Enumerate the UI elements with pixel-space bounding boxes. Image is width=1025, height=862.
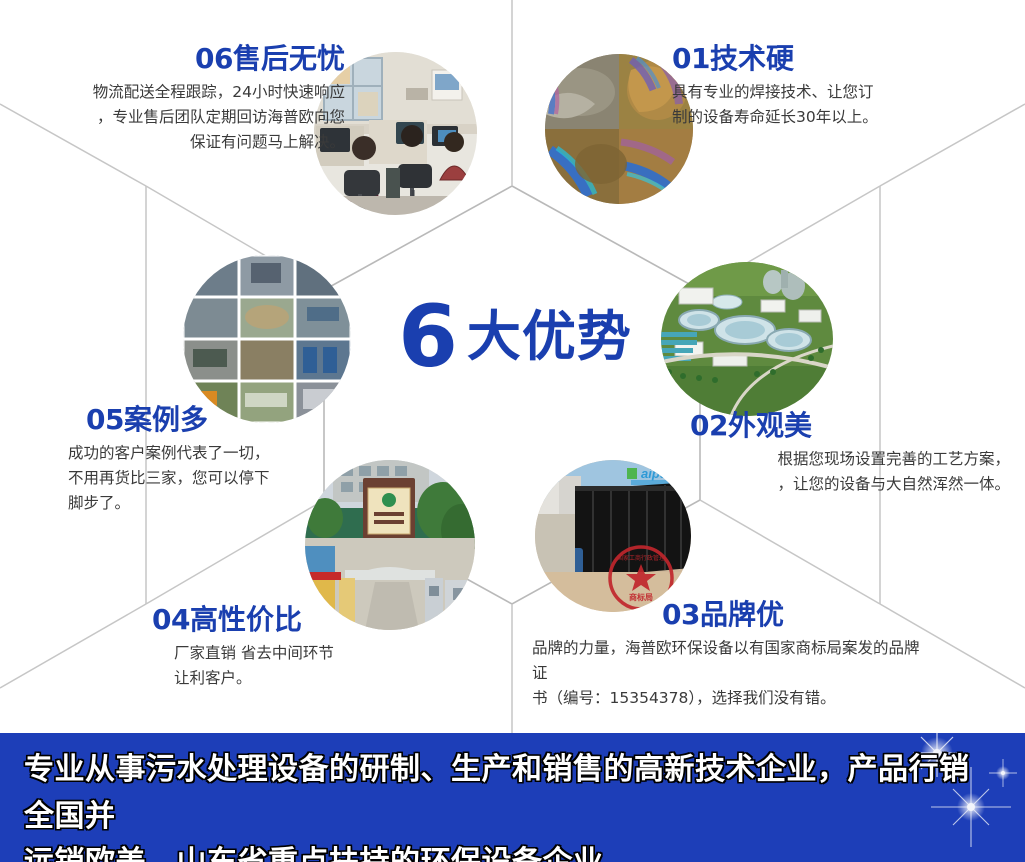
feature-04-line-2: 让利客户。 — [174, 666, 492, 691]
outer-edge-ll — [0, 604, 146, 688]
feature-03-desc: 品牌的力量，海普欧环保设备以有国家商标局案发的品牌证 书（编号：15354378… — [532, 636, 932, 711]
feature-05-line-3: 脚步了。 — [68, 491, 358, 516]
feature-05-title: 05案例多 — [86, 405, 358, 436]
center-number: 6 — [398, 294, 457, 380]
feature-02-desc: 根据您现场设置完善的工艺方案， ，让您的设备与大自然浑然一体。 — [690, 447, 1010, 497]
feature-05-number: 05 — [86, 403, 124, 436]
welding-closeup-photo — [545, 54, 693, 204]
feature-02-number: 02 — [690, 409, 728, 442]
feature-04-desc: 厂家直销 省去中间环节 让利客户。 — [174, 641, 492, 691]
feature-03-line-1: 品牌的力量，海普欧环保设备以有国家商标局案发的品牌证 — [532, 636, 932, 686]
feature-06-line-1: 物流配送全程跟踪，24小时快速响应 — [20, 80, 345, 105]
feature-06-number: 06 — [195, 42, 233, 75]
black-equipment-with-seal-photo: aipuou — [535, 460, 691, 612]
feature-06-line-2: ，专业售后团队定期回访海普欧向您 — [20, 105, 345, 130]
feature-04-title: 04高性价比 — [152, 605, 492, 636]
feature-05-desc: 成功的客户案例代表了一切， 不用再货比三家，您可以停下 脚步了。 — [68, 441, 358, 516]
svg-text:aipuou: aipuou — [641, 466, 684, 481]
feature-04-line-1: 厂家直销 省去中间环节 — [174, 641, 492, 666]
feature-02-heading: 外观美 — [728, 409, 812, 442]
svg-text:国家工商行政管理: 国家工商行政管理 — [617, 554, 665, 562]
center-words: 大优势 — [467, 310, 632, 364]
feature-01-heading: 技术硬 — [710, 42, 794, 75]
feature-06[interactable]: 06售后无忧 物流配送全程跟踪，24小时快速响应 ，专业售后团队定期回访海普欧向… — [20, 44, 345, 155]
feature-01-desc: 具有专业的焊接技术、让您订 制的设备寿命延长30年以上。 — [672, 80, 1002, 130]
feature-03[interactable]: 03品牌优 品牌的力量，海普欧环保设备以有国家商标局案发的品牌证 书（编号：15… — [532, 600, 932, 711]
feature-01-title: 01技术硬 — [672, 44, 1002, 75]
feature-04[interactable]: 04高性价比 厂家直销 省去中间环节 让利客户。 — [152, 605, 492, 691]
feature-06-title: 06售后无忧 — [20, 44, 345, 75]
spoke-lower-right — [700, 500, 880, 604]
feature-01[interactable]: 01技术硬 具有专业的焊接技术、让您订 制的设备寿命延长30年以上。 — [672, 44, 1002, 130]
feature-02-line-2: ，让您的设备与大自然浑然一体。 — [690, 472, 1010, 497]
banner-slogan: 专业从事污水处理设备的研制、生产和销售的高新技术企业，产品行销全国并 远销欧美，… — [24, 747, 974, 862]
feature-01-line-1: 具有专业的焊接技术、让您订 — [672, 80, 1002, 105]
center-title: 6 大优势 — [370, 282, 660, 392]
feature-02-line-1: 根据您现场设置完善的工艺方案， — [690, 447, 1010, 472]
feature-01-line-2: 制的设备寿命延长30年以上。 — [672, 105, 1002, 130]
feature-06-heading: 售后无忧 — [233, 42, 345, 75]
feature-06-desc: 物流配送全程跟踪，24小时快速响应 ，专业售后团队定期回访海普欧向您 保证有问题… — [20, 80, 345, 155]
bottom-banner: 专业从事污水处理设备的研制、生产和销售的高新技术企业，产品行销全国并 远销欧美，… — [0, 733, 1025, 862]
case-collage-photo — [183, 255, 351, 423]
feature-04-heading: 高性价比 — [190, 603, 302, 636]
feature-05-line-2: 不用再货比三家，您可以停下 — [68, 466, 358, 491]
banner-line-1: 专业从事污水处理设备的研制、生产和销售的高新技术企业，产品行销全国并 — [24, 747, 974, 840]
feature-03-heading: 品牌优 — [700, 598, 784, 631]
feature-06-line-3: 保证有问题马上解决。 — [20, 130, 345, 155]
banner-line-2: 远销欧美，山东省重点扶持的环保设备企业。 — [24, 840, 974, 862]
feature-05-line-1: 成功的客户案例代表了一切， — [68, 441, 358, 466]
feature-01-number: 01 — [672, 42, 710, 75]
feature-03-line-2: 书（编号：15354378），选择我们没有错。 — [532, 686, 932, 711]
feature-05[interactable]: 05案例多 成功的客户案例代表了一切， 不用再货比三家，您可以停下 脚步了。 — [68, 405, 358, 516]
aerial-treatment-plant-photo — [661, 262, 833, 416]
feature-03-title: 03品牌优 — [662, 600, 932, 631]
feature-05-heading: 案例多 — [124, 403, 208, 436]
feature-03-number: 03 — [662, 598, 700, 631]
infographic-root: .hl{stroke:#b9b9b9;stroke-width:1.6;fill… — [0, 0, 1025, 862]
feature-04-number: 04 — [152, 603, 190, 636]
feature-02-title: 02外观美 — [690, 411, 1010, 442]
feature-02[interactable]: 02外观美 根据您现场设置完善的工艺方案， ，让您的设备与大自然浑然一体。 — [690, 411, 1010, 497]
